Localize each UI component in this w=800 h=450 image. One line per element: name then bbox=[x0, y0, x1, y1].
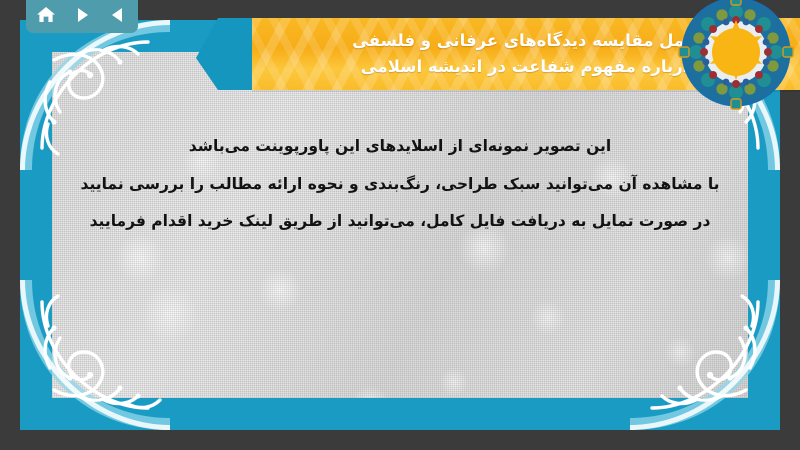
triangle-right-icon bbox=[73, 6, 91, 28]
slide-body-text: این تصویر نمونه‌ای از اسلایدهای این پاور… bbox=[52, 128, 748, 241]
title-banner-body: کامل مقایسه دیدگاه‌های عرفانی و فلسفی در… bbox=[252, 18, 800, 90]
title-banner: کامل مقایسه دیدگاه‌های عرفانی و فلسفی در… bbox=[196, 18, 800, 94]
triangle-left-icon bbox=[109, 6, 127, 28]
slide-root: کامل مقایسه دیدگاه‌های عرفانی و فلسفی در… bbox=[0, 0, 800, 450]
home-button[interactable] bbox=[35, 6, 57, 28]
home-icon bbox=[36, 5, 56, 29]
body-line-1: این تصویر نمونه‌ای از اسلایدهای این پاور… bbox=[52, 128, 748, 166]
next-slide-button[interactable] bbox=[71, 6, 93, 28]
title-line-2: درباره مفهوم شفاعت در اندیشه اسلامی bbox=[361, 54, 691, 80]
previous-slide-button[interactable] bbox=[107, 6, 129, 28]
title-line-1: کامل مقایسه دیدگاه‌های عرفانی و فلسفی bbox=[352, 28, 700, 54]
body-line-3: در صورت تمایل به دریافت فایل کامل، می‌تو… bbox=[52, 203, 748, 241]
navigation-toolbar bbox=[26, 0, 138, 33]
body-line-2: با مشاهده آن می‌توانید سبک طراحی، رنگ‌بن… bbox=[52, 166, 748, 204]
